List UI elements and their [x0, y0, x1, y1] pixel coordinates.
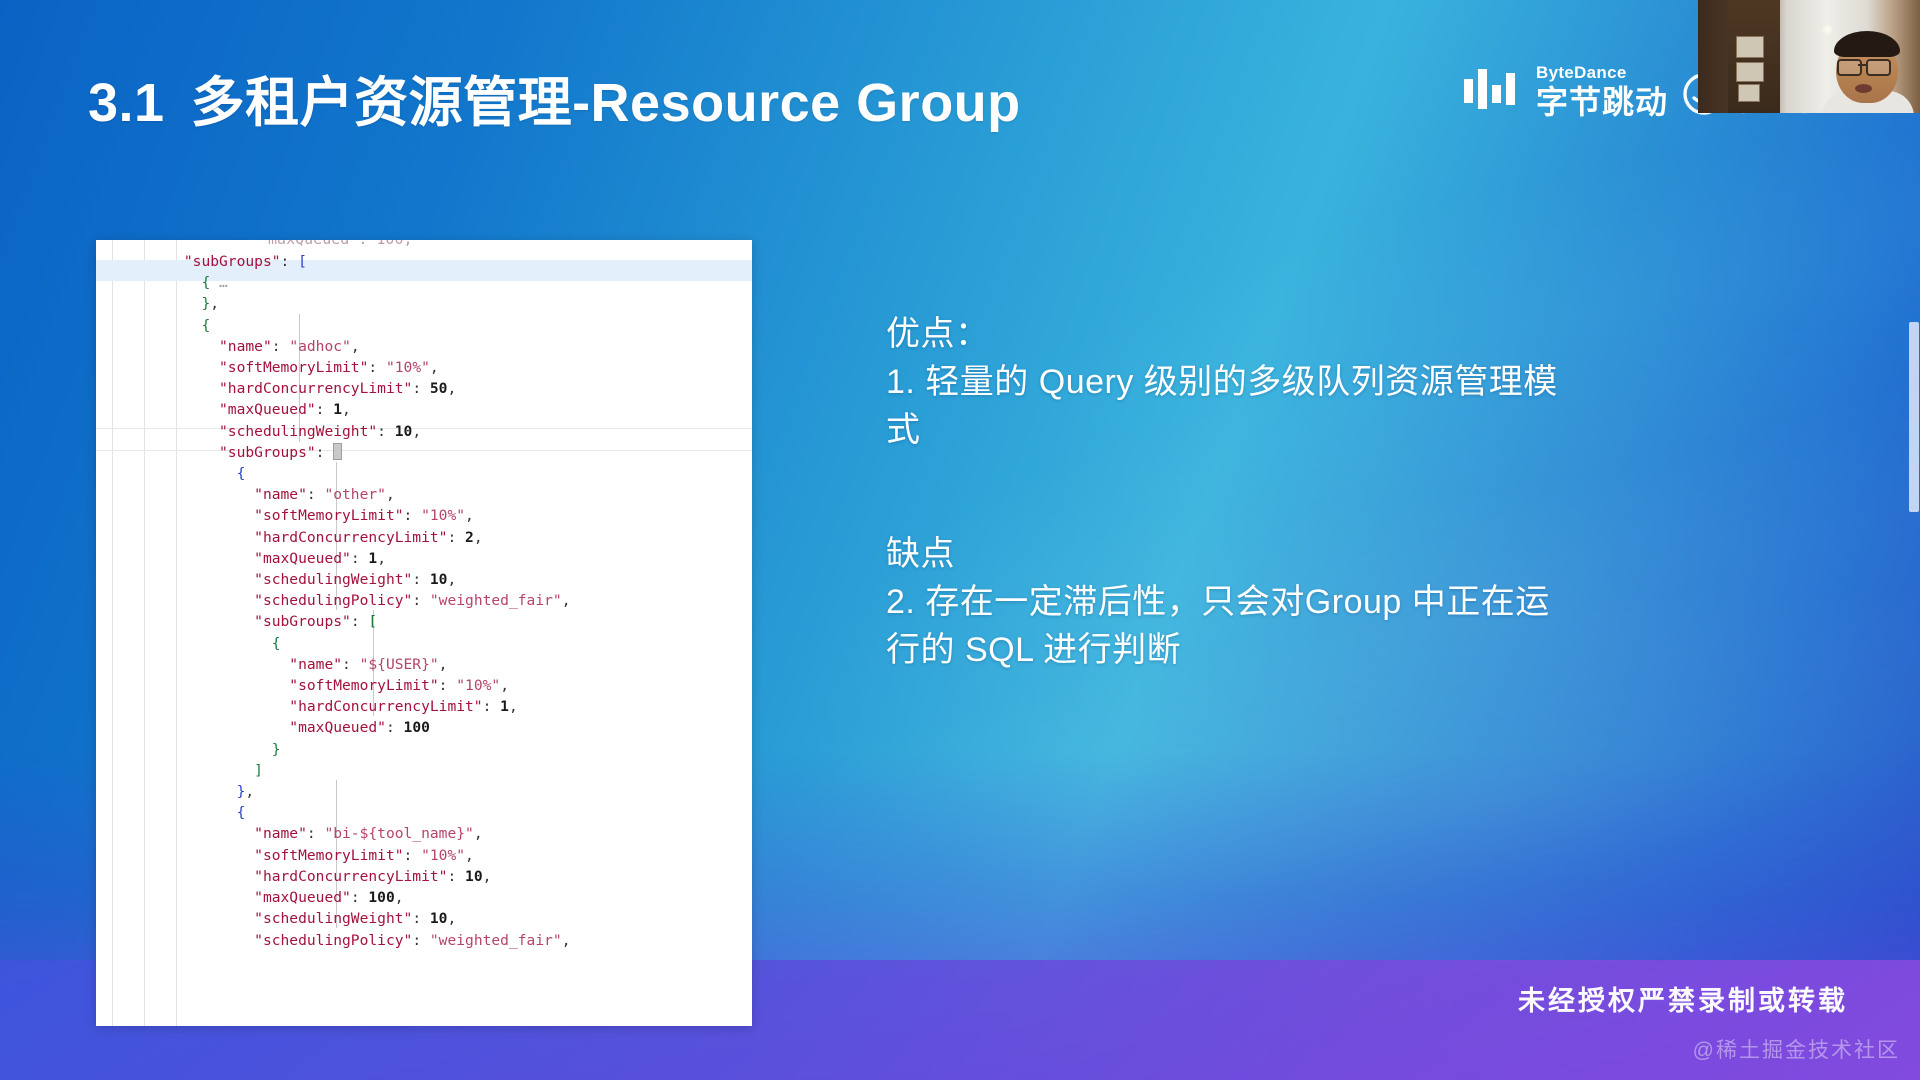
code-token-str: "10%" — [386, 359, 430, 376]
code-token-key: "schedulingWeight" — [254, 910, 412, 927]
code-token-str: "weighted_fair" — [430, 932, 562, 949]
code-token-brc: { — [272, 635, 281, 652]
code-line: { — [96, 315, 752, 336]
code-line: "maxQueued": 1, — [96, 399, 752, 420]
code-token-punc: , — [439, 656, 448, 673]
code-token-key: "subGroups" — [219, 444, 316, 461]
presenter-webcam-overlay — [1698, 0, 1920, 113]
bar-chart-mark-icon — [1464, 69, 1522, 114]
code-clipped-text: "maxQueued": 100, — [259, 240, 413, 248]
page-scrollbar-thumb[interactable] — [1909, 322, 1919, 512]
code-token-punc: : — [404, 847, 422, 864]
glasses-bridge — [1858, 64, 1866, 66]
code-line: "hardConcurrencyLimit": 1, — [96, 696, 752, 717]
code-token-punc: : — [368, 359, 386, 376]
code-token-brk: [ — [368, 613, 377, 630]
code-token-punc: : — [412, 910, 430, 927]
webcam-presenter — [1818, 29, 1920, 113]
code-line: "schedulingWeight": 10, — [96, 908, 752, 929]
code-token-key: "name" — [254, 486, 307, 503]
code-token-punc: : — [386, 719, 404, 736]
code-token-key: "hardConcurrencyLimit" — [254, 529, 447, 546]
code-token-punc: : — [447, 529, 465, 546]
code-line: "hardConcurrencyLimit": 50, — [96, 378, 752, 399]
cons-note: 缺点 2. 存在一定滞后性，只会对Group 中正在运行的 SQL 进行判断 — [886, 530, 1576, 674]
code-line: { — [96, 633, 752, 654]
code-token-key: "softMemoryLimit" — [219, 359, 368, 376]
code-token-num: 10 — [430, 571, 448, 588]
code-token-punc: , — [465, 507, 474, 524]
code-token-key: "name" — [289, 656, 342, 673]
page-scrollbar-track[interactable] — [1908, 0, 1920, 1080]
code-line: "hardConcurrencyLimit": 10, — [96, 866, 752, 887]
code-token-punc: : — [412, 932, 430, 949]
community-watermark: @稀土掘金技术社区 — [1693, 1034, 1900, 1064]
code-token-punc: , — [245, 783, 254, 800]
code-token-punc: : — [439, 677, 457, 694]
code-token-str: "weighted_fair" — [430, 592, 562, 609]
code-token-punc: , — [447, 910, 456, 927]
code-token-punc: , — [474, 825, 483, 842]
code-line: }, — [96, 781, 752, 802]
bytedance-logo-cn: 字节跳动 — [1536, 86, 1668, 118]
code-token-punc: , — [377, 550, 386, 567]
code-line: "name": "${USER}", — [96, 654, 752, 675]
code-token-str: "10%" — [421, 847, 465, 864]
code-token-punc: : — [342, 656, 360, 673]
code-token-key: "softMemoryLimit" — [254, 507, 403, 524]
code-token-key: "maxQueued" — [219, 401, 316, 418]
code-token-punc: , — [447, 571, 456, 588]
code-line: "subGroups": [ — [96, 611, 752, 632]
code-token-punc: , — [562, 592, 571, 609]
code-token-punc: : — [412, 380, 430, 397]
code-token-punc: , — [474, 529, 483, 546]
code-token-brc: { — [201, 317, 210, 334]
code-line: "softMemoryLimit": "10%", — [96, 845, 752, 866]
pros-heading: 优点： — [886, 310, 1576, 358]
code-token-num: 10 — [430, 910, 448, 927]
code-line: { — [96, 463, 752, 484]
code-token-key: "hardConcurrencyLimit" — [219, 380, 412, 397]
code-token-num: 1 — [333, 401, 342, 418]
code-token-brc: } — [272, 741, 281, 758]
code-token-brc: { — [201, 274, 210, 291]
code-token-brc-b: { — [237, 804, 246, 821]
page-title-number: 3.1 — [88, 73, 165, 133]
webcam-picture-frame — [1738, 84, 1760, 102]
recording-notice-watermark: 未经授权严禁录制或转载 — [1518, 979, 1848, 1018]
code-line: "name": "other", — [96, 484, 752, 505]
code-token-dim: … — [210, 274, 228, 291]
code-editor-screenshot: "maxQueued": 100, "subGroups": [ { … }, … — [96, 240, 752, 1026]
code-token-punc: : — [316, 401, 334, 418]
code-token-punc: : — [351, 613, 369, 630]
code-token-key: "maxQueued" — [254, 889, 351, 906]
code-token-num: 1 — [500, 698, 509, 715]
code-token-key: "subGroups" — [254, 613, 351, 630]
code-token-punc: : — [307, 825, 325, 842]
code-token-num: 100 — [404, 719, 430, 736]
code-token-key: "schedulingWeight" — [254, 571, 412, 588]
code-token-key: "schedulingPolicy" — [254, 932, 412, 949]
code-line: "maxQueued": 100, — [96, 887, 752, 908]
code-line: "name": "adhoc", — [96, 336, 752, 357]
code-token-punc: , — [465, 847, 474, 864]
code-token-punc: : — [281, 253, 299, 270]
pros-body: 1. 轻量的 Query 级别的多级队列资源管理模式 — [886, 358, 1576, 454]
code-line: }, — [96, 293, 752, 314]
presentation-slide: 3.1多租户资源管理-Resource Group ByteDance 字节跳动… — [0, 0, 1920, 1080]
code-token-punc: , — [500, 677, 509, 694]
code-line: "schedulingPolicy": "weighted_fair", — [96, 590, 752, 611]
code-token-key: "hardConcurrencyLimit" — [254, 868, 447, 885]
code-token-key: "maxQueued" — [254, 550, 351, 567]
code-token-key: "softMemoryLimit" — [254, 847, 403, 864]
code-line: "hardConcurrencyLimit": 2, — [96, 527, 752, 548]
code-token-punc: , — [342, 401, 351, 418]
code-token-str: "adhoc" — [289, 338, 351, 355]
code-token-punc: : — [483, 698, 501, 715]
code-clipped-top-line: "maxQueued": 100, — [96, 240, 752, 251]
code-token-str: "${USER}" — [360, 656, 439, 673]
presenter-hair — [1834, 31, 1900, 57]
code-token-str: "bi-${tool_name}" — [324, 825, 473, 842]
code-token-num: 10 — [395, 423, 413, 440]
code-token-num: 50 — [430, 380, 448, 397]
code-token-brk: ] — [254, 762, 263, 779]
code-token-punc: : — [316, 444, 334, 461]
code-token-punc: : — [307, 486, 325, 503]
code-token-punc: : — [412, 571, 430, 588]
code-token-str: "10%" — [421, 507, 465, 524]
code-token-punc: : — [447, 868, 465, 885]
code-token-str: "other" — [324, 486, 386, 503]
bytedance-logo-en: ByteDance — [1536, 64, 1668, 81]
code-token-punc: , — [351, 338, 360, 355]
code-token-punc: : — [377, 423, 395, 440]
code-token-key: "subGroups" — [184, 253, 281, 270]
page-title: 3.1多租户资源管理-Resource Group — [88, 58, 1021, 137]
code-token-key: "maxQueued" — [289, 719, 386, 736]
code-token-punc: , — [386, 486, 395, 503]
code-line: "maxQueued": 100 — [96, 717, 752, 738]
code-token-brc-b: [ — [298, 253, 307, 270]
code-token-num: 100 — [368, 889, 394, 906]
code-line: "softMemoryLimit": "10%", — [96, 675, 752, 696]
bytedance-logo: ByteDance 字节跳动 — [1464, 64, 1668, 118]
code-line: ] — [96, 760, 752, 781]
code-line: "name": "bi-${tool_name}", — [96, 823, 752, 844]
code-line: "schedulingWeight": 10, — [96, 569, 752, 590]
code-token-punc: , — [430, 359, 439, 376]
code-token-punc: , — [210, 295, 219, 312]
code-token-punc: , — [447, 380, 456, 397]
cons-heading: 缺点 — [886, 530, 1576, 578]
code-token-punc: , — [509, 698, 518, 715]
text-cursor — [333, 443, 342, 460]
code-token-key: "hardConcurrencyLimit" — [289, 698, 482, 715]
code-line: "maxQueued": 1, — [96, 548, 752, 569]
page-title-text: 多租户资源管理-Resource Group — [191, 73, 1021, 133]
code-token-punc: : — [412, 592, 430, 609]
bytedance-logo-text: ByteDance 字节跳动 — [1536, 64, 1668, 118]
presenter-mouth — [1855, 84, 1872, 93]
code-token-punc: : — [351, 550, 369, 567]
code-token-punc: , — [412, 423, 421, 440]
code-line: "subGroups": — [96, 442, 752, 463]
code-token-key: "schedulingPolicy" — [254, 592, 412, 609]
code-line: "subGroups": [ — [96, 251, 752, 272]
code-token-punc: : — [351, 889, 369, 906]
code-token-key: "name" — [254, 825, 307, 842]
code-token-key: "schedulingWeight" — [219, 423, 377, 440]
webcam-picture-frame — [1736, 36, 1764, 58]
code-token-brc: } — [201, 295, 210, 312]
code-token-num: 10 — [465, 868, 483, 885]
code-line: "softMemoryLimit": "10%", — [96, 505, 752, 526]
code-token-num: 2 — [465, 529, 474, 546]
cons-body: 2. 存在一定滞后性，只会对Group 中正在运行的 SQL 进行判断 — [886, 578, 1576, 674]
code-line: { — [96, 802, 752, 823]
code-token-punc: , — [483, 868, 492, 885]
code-token-brc-b: { — [237, 465, 246, 482]
code-token-key: "name" — [219, 338, 272, 355]
code-token-str: "10%" — [456, 677, 500, 694]
webcam-picture-frame — [1736, 62, 1764, 82]
code-token-key: "softMemoryLimit" — [289, 677, 438, 694]
code-token-punc: , — [395, 889, 404, 906]
code-token-punc: : — [272, 338, 290, 355]
code-token-punc: : — [404, 507, 422, 524]
code-token-num: 1 — [368, 550, 377, 567]
code-token-punc: , — [562, 932, 571, 949]
code-line: "schedulingWeight": 10, — [96, 421, 752, 442]
glasses-icon — [1837, 59, 1862, 76]
pros-note: 优点： 1. 轻量的 Query 级别的多级队列资源管理模式 — [886, 310, 1576, 454]
code-line: "schedulingPolicy": "weighted_fair", — [96, 930, 752, 951]
code-line: "softMemoryLimit": "10%", — [96, 357, 752, 378]
code-content[interactable]: "subGroups": [ { … }, { "name": "adhoc",… — [96, 251, 752, 1026]
code-line: { … — [96, 272, 752, 293]
code-line: } — [96, 739, 752, 760]
glasses-icon — [1866, 59, 1891, 76]
